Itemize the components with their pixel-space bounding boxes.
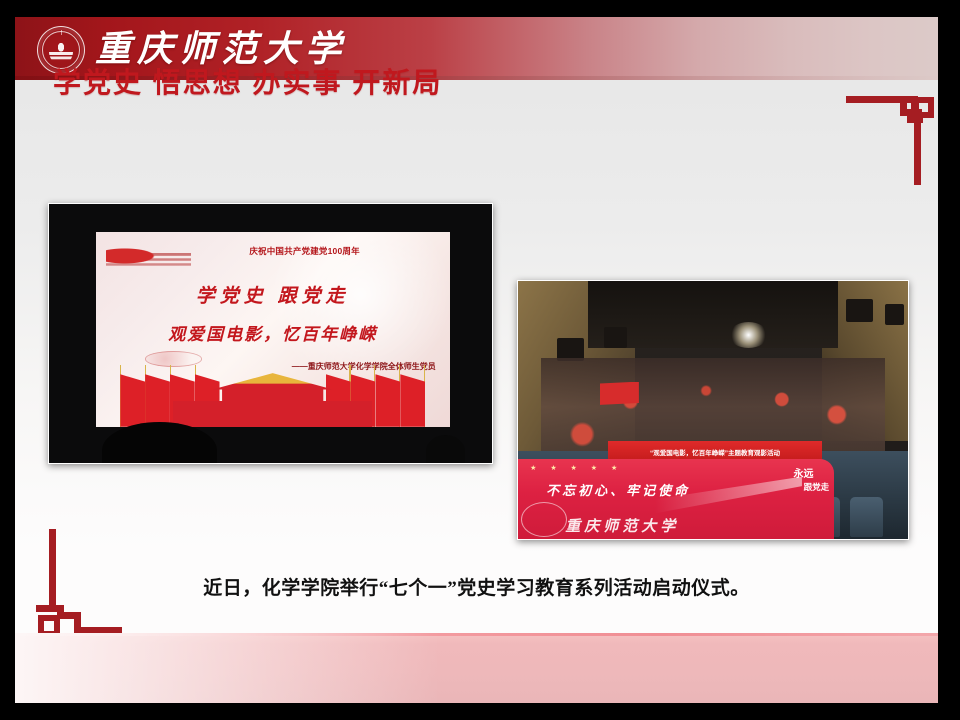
footer-band	[15, 633, 938, 703]
projection-line-1: 学党史 跟党走	[124, 281, 422, 308]
projected-slide: 庆祝中国共产党建党100周年 学党史 跟党走 观爱国电影，忆百年峥嵘 ——重庆师…	[96, 232, 450, 426]
banner-university-name: 重庆师范大学	[565, 515, 770, 536]
slide-frame: 重庆师范大学 学党史 悟思想 办实事 开新局	[0, 0, 960, 720]
audience-silhouette	[102, 422, 217, 464]
slide-title: 学党史 悟思想 办实事 开新局	[53, 61, 442, 101]
banner-slogan-right-2: 跟党走	[802, 483, 831, 492]
anniversary-emblem-icon	[106, 242, 191, 273]
slide-caption: 近日，化学学院举行“七个一”党史学习教育系列活动启动仪式。	[15, 573, 938, 600]
banner-seal-icon	[521, 502, 568, 538]
corner-ornament-top-right-icon	[828, 80, 938, 185]
corner-ornament-bottom-left-icon	[31, 526, 146, 641]
banner-slogan-right-1: 永远	[786, 470, 821, 481]
photo-cinema-screen: 庆祝中国共产党建党100周年 学党史 跟党走 观爱国电影，忆百年峥嵘 ——重庆师…	[48, 203, 493, 464]
red-flag-icon	[600, 382, 639, 405]
ceiling-light-icon	[729, 322, 768, 348]
cloud-motif-icon	[145, 351, 202, 367]
slide-canvas: 重庆师范大学 学党史 悟思想 办实事 开新局	[15, 17, 938, 703]
projection-line-2: 观爱国电影，忆百年峥嵘	[110, 320, 436, 345]
projection-top-banner: 庆祝中国共产党建党100周年	[202, 245, 408, 257]
banner-slogan-line-1: 不忘初心、牢记使命	[546, 480, 744, 499]
projection-signature: ——重庆师范大学化学学院全体师生党员	[292, 361, 436, 372]
banner-stars: ★ ★ ★ ★ ★	[530, 464, 623, 472]
photo-audience-group: “观爱国电影，忆百年峥嵘”主题教育观影活动 ★ ★ ★ ★ ★ 不忘初心、牢记使…	[517, 280, 909, 540]
audience-silhouette	[426, 435, 466, 464]
activity-banner-large: ★ ★ ★ ★ ★ 不忘初心、牢记使命 重庆师范大学 永远 跟党走	[517, 459, 834, 539]
